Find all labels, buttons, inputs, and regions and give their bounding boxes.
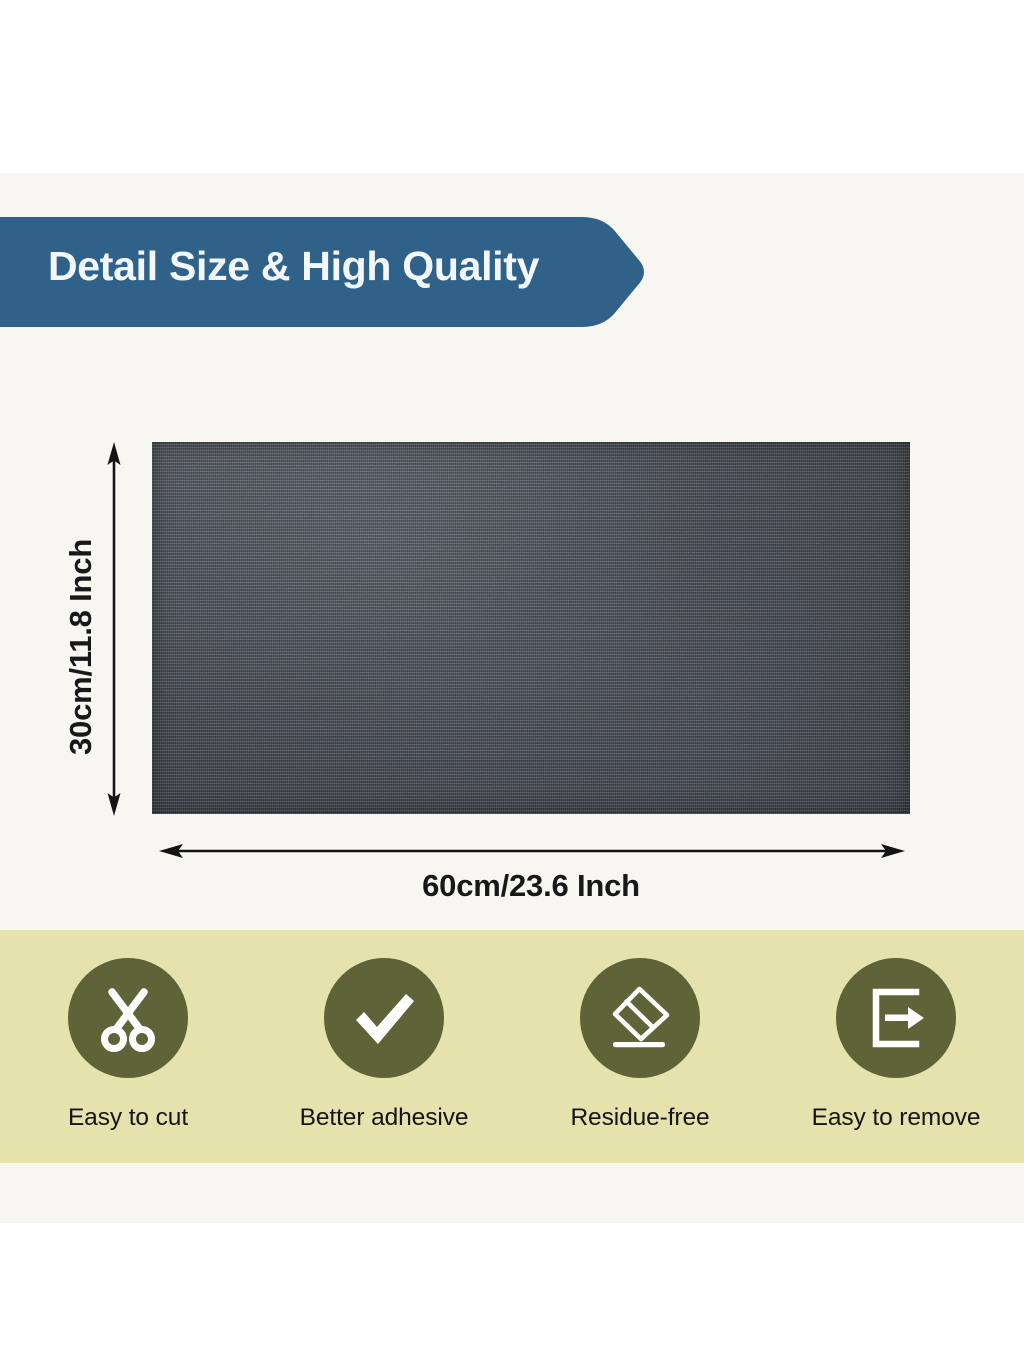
feature-label: Easy to cut <box>68 1104 188 1132</box>
background-bottom-cream <box>0 1163 1024 1223</box>
background-bottom-white <box>0 1223 1024 1365</box>
product-mat-image <box>152 442 910 814</box>
feature-item-better-adhesive: Better adhesive <box>256 930 512 1132</box>
exit-arrow-icon <box>860 982 932 1054</box>
feature-item-easy-to-cut: Easy to cut <box>0 930 256 1132</box>
feature-label: Residue-free <box>570 1104 709 1132</box>
background-top-white <box>0 0 1024 173</box>
feature-icon-badge <box>836 958 956 1078</box>
width-dimension-label: 60cm/23.6 Inch <box>152 868 910 904</box>
width-dimension-arrow <box>158 838 906 864</box>
feature-icon-badge <box>580 958 700 1078</box>
feature-label: Easy to remove <box>812 1104 981 1132</box>
feature-item-easy-to-remove: Easy to remove <box>768 930 1024 1132</box>
feature-label: Better adhesive <box>300 1104 469 1132</box>
feature-item-residue-free: Residue-free <box>512 930 768 1132</box>
feature-icon-badge <box>324 958 444 1078</box>
page-title: Detail Size & High Quality <box>48 243 539 290</box>
height-dimension-label: 30cm/11.8 Inch <box>63 415 107 755</box>
checkmark-icon <box>348 982 420 1054</box>
feature-icon-badge <box>68 958 188 1078</box>
scissors-icon <box>92 982 164 1054</box>
eraser-icon <box>603 981 677 1055</box>
feature-list: Easy to cut Better adhesive <box>0 930 1024 1163</box>
